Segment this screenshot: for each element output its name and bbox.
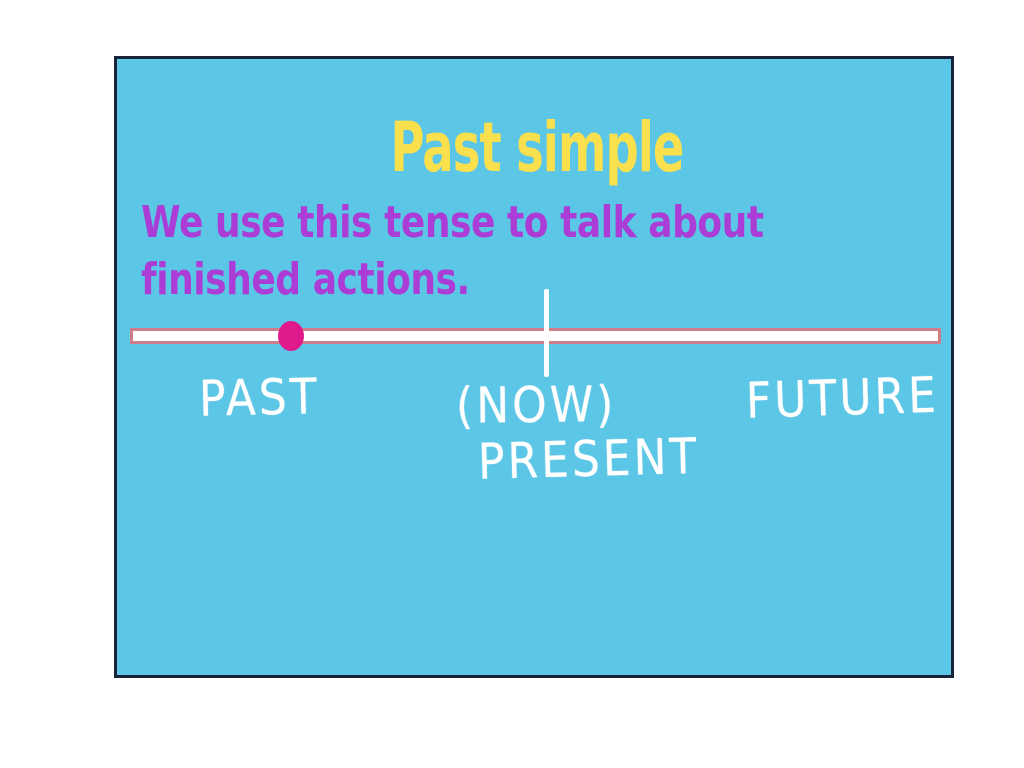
page-canvas: Past simple We use this tense to talk ab…	[0, 0, 1024, 768]
timeline-label-now: (NOW)	[456, 376, 617, 435]
timeline-label-future: FUTURE	[745, 367, 940, 430]
timeline-label-present: PRESENT	[477, 428, 700, 491]
slide-body-text: We use this tense to talk about finished…	[141, 194, 870, 308]
presentation-slide: Past simple We use this tense to talk ab…	[114, 56, 954, 678]
timeline-bar	[130, 328, 941, 344]
past-event-dot-icon	[278, 321, 304, 351]
now-tick-mark-icon	[544, 289, 549, 377]
timeline-label-past: PAST	[198, 368, 320, 428]
timeline-diagram	[130, 328, 941, 344]
slide-title: Past simple	[176, 115, 898, 181]
